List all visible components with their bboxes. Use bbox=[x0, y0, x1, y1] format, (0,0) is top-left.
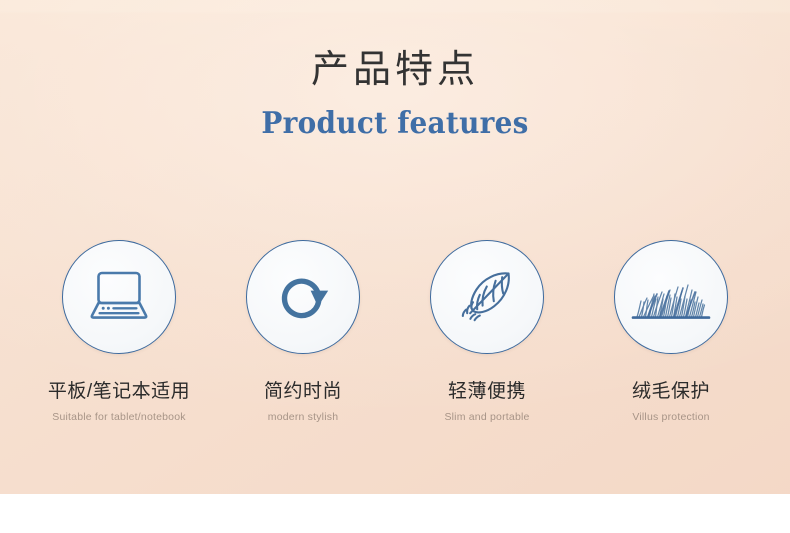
laptop-icon bbox=[86, 269, 152, 325]
feature-label-english: Villus protection bbox=[632, 411, 709, 424]
feature-label-english: Suitable for tablet/notebook bbox=[52, 411, 185, 424]
feature-item-villus-protection: 绒毛保护 Villus protection bbox=[582, 240, 760, 424]
product-features-banner: 产品特点 Product features 平板/笔记本适用 Sui bbox=[0, 0, 790, 533]
feature-label-chinese: 轻薄便携 bbox=[448, 380, 526, 404]
feature-icon-circle bbox=[62, 240, 176, 354]
heading-block: 产品特点 Product features bbox=[0, 46, 790, 142]
feather-icon bbox=[455, 265, 519, 329]
feature-label-english: modern stylish bbox=[268, 411, 339, 424]
feature-icon-circle bbox=[246, 240, 360, 354]
feature-item-modern-stylish: 简约时尚 modern stylish bbox=[214, 240, 392, 424]
feature-label-chinese: 平板/笔记本适用 bbox=[48, 380, 190, 404]
grass-fur-icon bbox=[629, 267, 713, 327]
feature-icon-circle bbox=[430, 240, 544, 354]
feature-list: 平板/笔记本适用 Suitable for tablet/notebook 简约… bbox=[30, 240, 760, 424]
page-title-chinese: 产品特点 bbox=[0, 46, 790, 94]
refresh-arrow-icon bbox=[274, 268, 332, 326]
feature-item-tablet-notebook: 平板/笔记本适用 Suitable for tablet/notebook bbox=[30, 240, 208, 424]
page-title-english: Product features bbox=[28, 106, 763, 142]
feature-label-chinese: 绒毛保护 bbox=[632, 380, 710, 404]
feature-icon-circle bbox=[614, 240, 728, 354]
bottom-white-strip bbox=[0, 494, 790, 533]
feature-item-slim-portable: 轻薄便携 Slim and portable bbox=[398, 240, 576, 424]
feature-label-chinese: 简约时尚 bbox=[264, 380, 342, 404]
feature-label-english: Slim and portable bbox=[444, 411, 529, 424]
